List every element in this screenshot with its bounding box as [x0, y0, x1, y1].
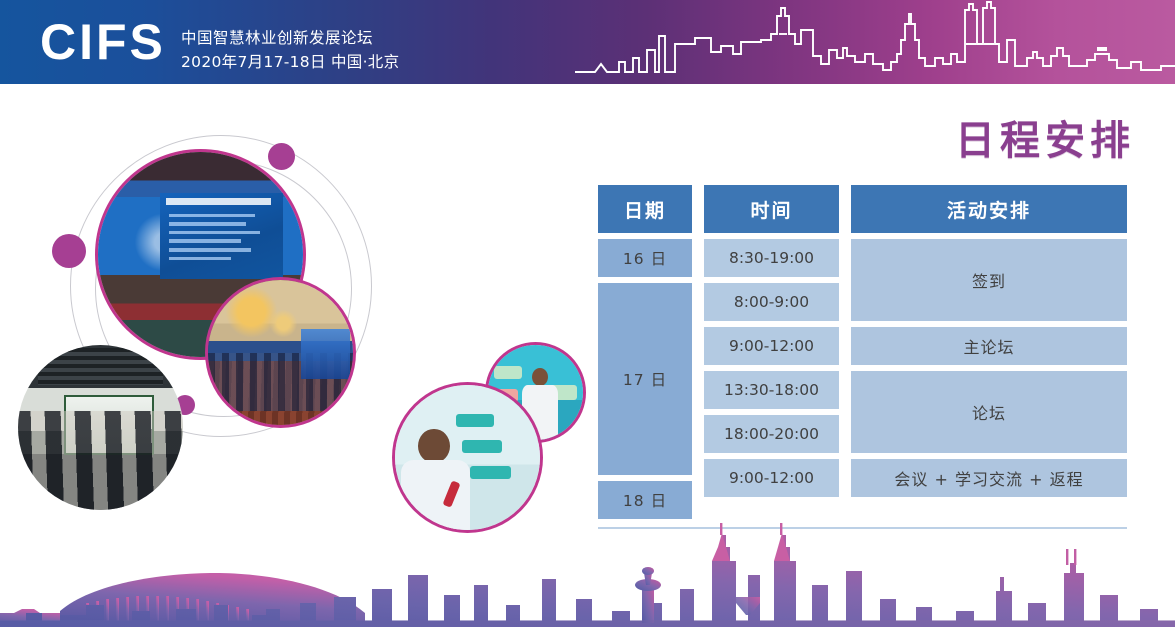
- time-column: 8:30-19:00 8:00-9:00 9:00-12:00 13:30-18…: [704, 239, 839, 497]
- table-body: 16 日 17 日 18 日 8:30-19:00 8:00-9:00 9:00…: [598, 239, 1127, 529]
- decorative-dot-top: [268, 143, 295, 170]
- activity-cell: 论坛: [851, 371, 1127, 453]
- activity-cell: 主论坛: [851, 327, 1127, 365]
- column-header-activity: 活动安排: [851, 185, 1127, 233]
- date-column: 16 日 17 日 18 日: [598, 239, 692, 519]
- exhibition-hall-photo: [208, 280, 353, 425]
- time-cell: 13:30-18:00: [704, 371, 839, 409]
- cifs-logo: CIFS: [40, 16, 166, 68]
- activity-cell: 会议 + 学习交流 + 返程: [851, 459, 1127, 497]
- schedule-table: 日期 时间 活动安排 16 日 17 日 18 日 8:30-19:00 8:0…: [598, 185, 1127, 529]
- booth-visitors-photo: [18, 345, 183, 510]
- time-cell: 9:00-12:00: [704, 327, 839, 365]
- banner-subtitle-cn: 2020年7月17-18日 中国·北京: [181, 51, 399, 73]
- footer-base-strip: [0, 620, 1175, 627]
- date-cell: 16 日: [598, 239, 692, 277]
- city-skyline-silhouette-icon: [0, 515, 1175, 627]
- activity-column: 签到 主论坛 论坛 会议 + 学习交流 + 返程: [851, 239, 1127, 497]
- presentation-screen: [160, 193, 283, 279]
- banner-underline: [0, 84, 1175, 87]
- date-cell: 18 日: [598, 481, 692, 519]
- column-header-time: 时间: [704, 185, 839, 233]
- speaker-with-microphone-photo: [395, 385, 540, 530]
- time-cell: 9:00-12:00: [704, 459, 839, 497]
- header-banner: CIFS 中国智慧林业创新发展论坛 2020年7月17-18日 中国·北京: [0, 0, 1175, 84]
- table-header-row: 日期 时间 活动安排: [598, 185, 1127, 233]
- time-cell: 8:30-19:00: [704, 239, 839, 277]
- decorative-dot-left: [52, 234, 86, 268]
- time-cell: 8:00-9:00: [704, 283, 839, 321]
- column-header-date: 日期: [598, 185, 692, 233]
- photo-collage: [10, 130, 580, 530]
- page-title: 日程安排: [955, 108, 1135, 166]
- banner-text-block: 中国智慧林业创新发展论坛 2020年7月17-18日 中国·北京: [181, 27, 399, 73]
- city-skyline-outline-icon: [575, 0, 1175, 84]
- banner-title-cn: 中国智慧林业创新发展论坛: [181, 27, 399, 49]
- slide-canvas: CIFS 中国智慧林业创新发展论坛 2020年7月17-18日 中国·北京 日程…: [0, 0, 1175, 627]
- date-cell: 17 日: [598, 283, 692, 475]
- time-cell: 18:00-20:00: [704, 415, 839, 453]
- activity-cell: 签到: [851, 239, 1127, 321]
